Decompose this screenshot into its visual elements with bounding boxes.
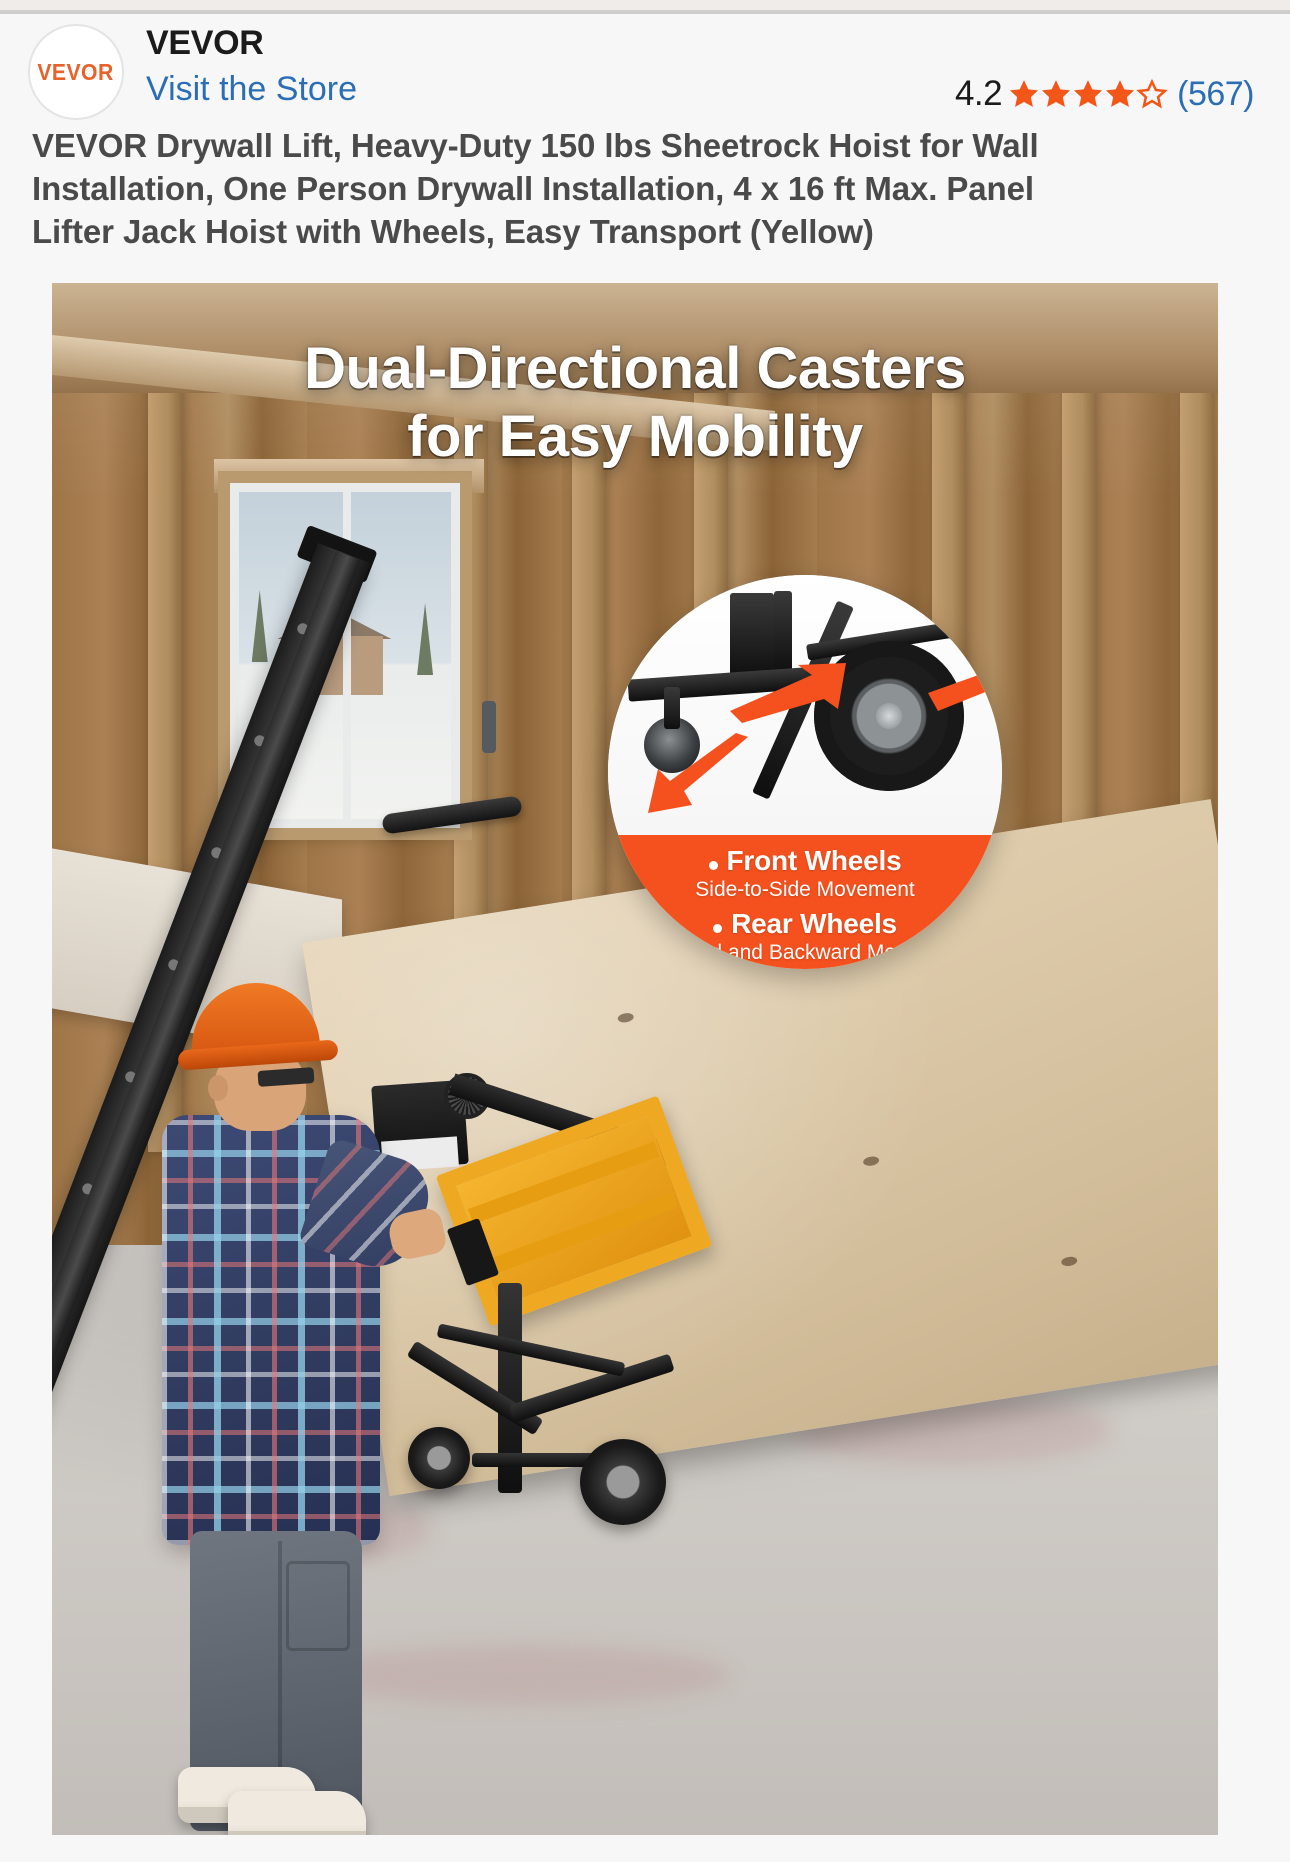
star-filled-icon (1104, 78, 1136, 110)
star-filled-icon (1008, 78, 1040, 110)
arrow-up-right-icon (726, 659, 852, 725)
star-filled-icon (1072, 78, 1104, 110)
worker-ear (208, 1075, 228, 1101)
hero-headline-line2: for Easy Mobility (142, 403, 1128, 471)
window (230, 483, 460, 828)
store-meta: VEVOR Visit the Store (146, 22, 955, 109)
window-house (286, 636, 384, 695)
window-latch (482, 701, 496, 753)
worker-shoe-front (228, 1791, 366, 1835)
rating-value: 4.2 (955, 74, 1002, 114)
rating-summary[interactable]: 4.2 (567) (955, 74, 1254, 114)
wheel-hub (876, 703, 902, 729)
callout-item-title: Front Wheels (727, 845, 902, 877)
callout-item-front-wheels: Front Wheels Side-to-Side Movement (608, 845, 1002, 902)
arrow-right-icon (928, 653, 1002, 723)
rating-stars[interactable] (1008, 78, 1168, 110)
product-detail-page: VEVOR VEVOR Visit the Store 4.2 (0, 0, 1290, 1862)
bullet-icon (709, 861, 718, 870)
callout-item-rear-wheels: Rear Wheels Forward and Backward Movemen… (608, 908, 1002, 965)
callout-item-title: Rear Wheels (731, 908, 897, 940)
product-hero-image[interactable]: Dual-Directional Casters for Easy Mobili… (52, 283, 1218, 1835)
bullet-icon (713, 924, 722, 933)
callout-item-subtitle: Forward and Backward Movement (608, 941, 1002, 965)
arrow-down-left-icon (644, 733, 754, 821)
store-name: VEVOR (146, 26, 955, 62)
plywood-knot (863, 1155, 880, 1166)
window-mullion (343, 492, 351, 819)
pants-seam (278, 1541, 282, 1801)
top-strip (0, 0, 1290, 10)
hero-scene: Dual-Directional Casters for Easy Mobili… (52, 283, 1218, 1835)
window-tree (252, 590, 268, 662)
hero-headline-line1: Dual-Directional Casters (142, 335, 1128, 403)
plywood-knot (1061, 1256, 1078, 1267)
callout-title-row: Front Wheels (608, 845, 1002, 877)
worker-figure (162, 983, 412, 1813)
store-logo-text: VEVOR (38, 59, 114, 86)
callout-photo-area (608, 575, 1002, 835)
window-house-roof (277, 610, 391, 639)
front-caster-closeup-right (940, 597, 986, 643)
hero-headline: Dual-Directional Casters for Easy Mobili… (52, 335, 1218, 472)
plywood-knot (617, 1012, 634, 1023)
star-filled-icon (1040, 78, 1072, 110)
star-outline-icon (1136, 78, 1168, 110)
callout-title-row: Rear Wheels (608, 908, 1002, 940)
product-title: VEVOR Drywall Lift, Heavy-Duty 150 lbs S… (32, 125, 1042, 254)
callout-text-band: Front Wheels Side-to-Side Movement Rear … (608, 835, 1002, 969)
shoe-sole (228, 1831, 366, 1835)
visit-the-store-link[interactable]: Visit the Store (146, 69, 357, 109)
caster-stem (664, 687, 680, 729)
callout-item-subtitle: Side-to-Side Movement (608, 878, 1002, 902)
store-avatar-icon[interactable]: VEVOR (28, 24, 124, 120)
cargo-pocket (286, 1561, 350, 1651)
store-header: VEVOR VEVOR Visit the Store 4.2 (0, 14, 1290, 122)
casters-callout: Front Wheels Side-to-Side Movement Rear … (608, 575, 1002, 969)
review-count-link[interactable]: (567) (1177, 75, 1254, 114)
window-tree (417, 603, 433, 675)
